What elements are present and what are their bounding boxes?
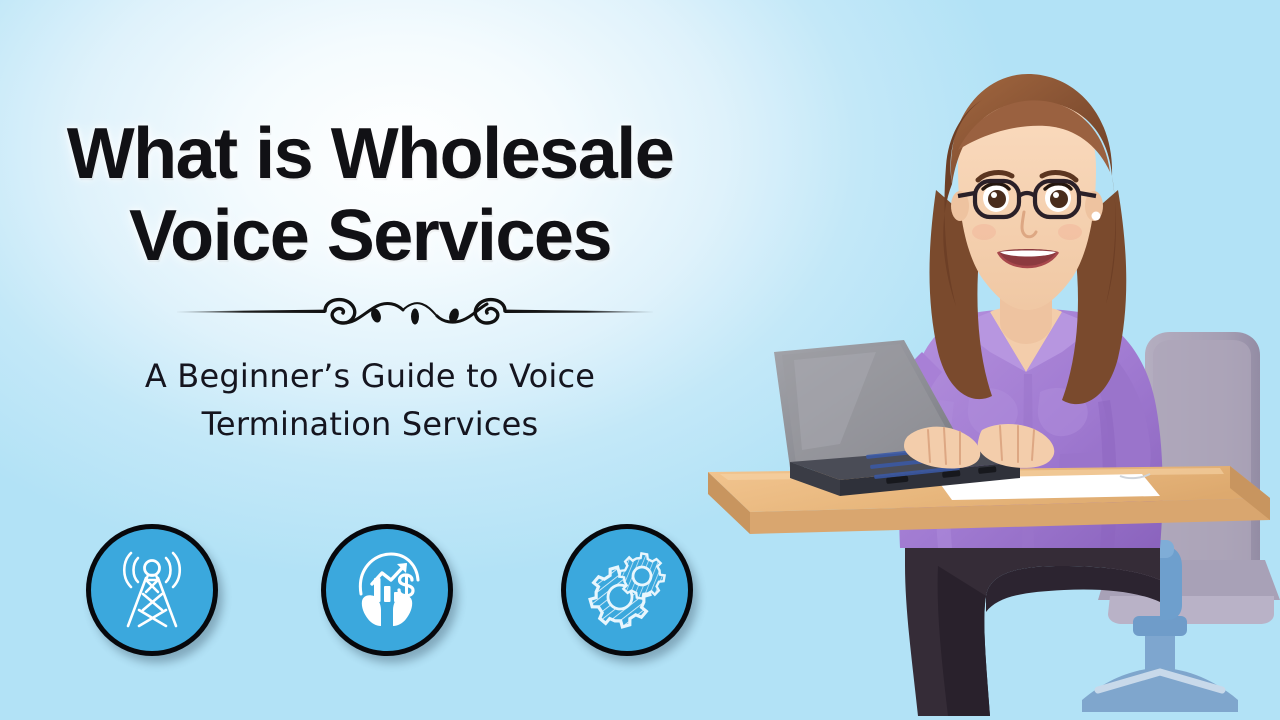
woman-working-on-laptop-illustration [690,0,1280,720]
text-block: What is Wholesale Voice Services [0,0,740,520]
ornamental-flourish-divider-icon [175,292,655,332]
feature-icon-broadcast-tower[interactable] [86,524,218,656]
ornament-divider [175,292,655,332]
gears-icon [580,543,674,637]
feature-icon-gears[interactable] [561,524,693,656]
illustration-canvas [690,0,1280,720]
subtitle-line-2: Termination Services [0,408,740,442]
banner-root: What is Wholesale Voice Services [0,0,1280,720]
feature-icon-revenue-growth[interactable] [321,524,453,656]
hands-growth-chart-dollar-icon [341,544,433,636]
feature-icon-row [0,520,740,670]
page-title-line-1: What is Wholesale [0,118,740,190]
page-title-line-2: Voice Services [0,200,740,272]
subtitle-line-1: A Beginner’s Guide to Voice [0,360,740,394]
broadcast-tower-icon [106,544,198,636]
